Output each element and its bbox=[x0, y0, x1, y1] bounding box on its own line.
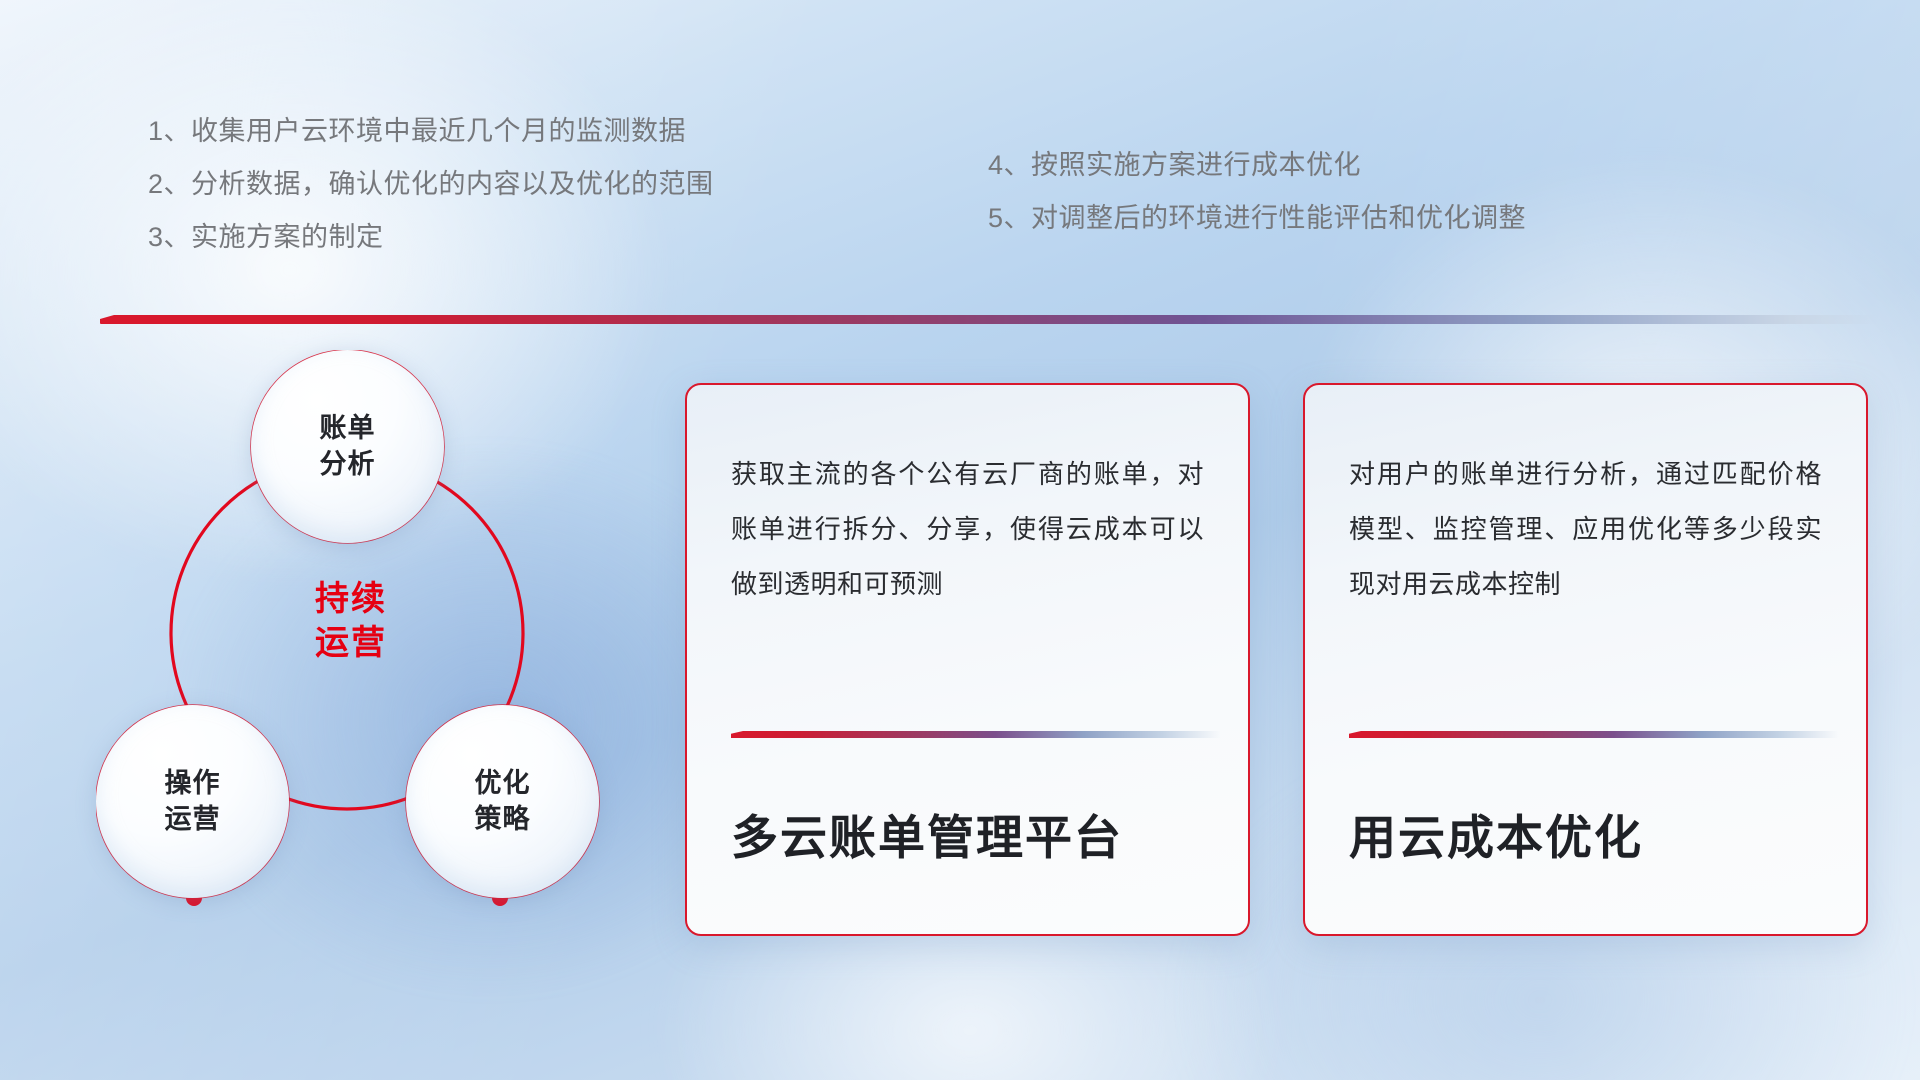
section-divider-rule bbox=[100, 315, 1880, 324]
bubble-operations-label: 操作 运营 bbox=[165, 766, 221, 836]
cycle-diagram: 账单 分析 操作 运营 优化 策略 持续 运营 bbox=[96, 350, 656, 940]
bubble-optimization-strategy-line1: 优化 bbox=[475, 768, 531, 798]
bubble-bill-analysis[interactable]: 账单 分析 bbox=[251, 350, 444, 543]
bubble-operations-line1: 操作 bbox=[165, 768, 221, 798]
bubble-optimization-strategy[interactable]: 优化 策略 bbox=[406, 705, 599, 898]
card-multicloud-billing[interactable]: 获取主流的各个公有云厂商的账单，对账单进行拆分、分享，使得云成本可以做到透明和可… bbox=[685, 383, 1250, 936]
process-step-1: 1、收集用户云环境中最近几个月的监测数据 bbox=[148, 118, 988, 145]
process-step-4: 4、按照实施方案进行成本优化 bbox=[988, 152, 1688, 179]
card-multicloud-billing-divider bbox=[731, 731, 1221, 738]
card-multicloud-billing-title: 多云账单管理平台 bbox=[731, 812, 1123, 864]
card-cloud-cost-optimization[interactable]: 对用户的账单进行分析，通过匹配价格模型、监控管理、应用优化等多少段实现对用云成本… bbox=[1303, 383, 1868, 936]
process-step-3: 3、实施方案的制定 bbox=[148, 224, 988, 251]
bubble-optimization-strategy-label: 优化 策略 bbox=[475, 766, 531, 836]
process-steps-left-column: 1、收集用户云环境中最近几个月的监测数据 2、分析数据，确认优化的内容以及优化的… bbox=[148, 118, 988, 277]
cycle-center-label: 持续 运营 bbox=[256, 578, 446, 665]
bubble-operations-line2: 运营 bbox=[165, 804, 221, 834]
slide-canvas: 1、收集用户云环境中最近几个月的监测数据 2、分析数据，确认优化的内容以及优化的… bbox=[0, 0, 1920, 1080]
process-step-5: 5、对调整后的环境进行性能评估和优化调整 bbox=[988, 205, 1688, 232]
card-multicloud-billing-body: 获取主流的各个公有云厂商的账单，对账单进行拆分、分享，使得云成本可以做到透明和可… bbox=[731, 447, 1204, 687]
bubble-optimization-strategy-line2: 策略 bbox=[475, 804, 531, 834]
card-cloud-cost-optimization-title: 用云成本优化 bbox=[1349, 812, 1643, 864]
process-steps: 1、收集用户云环境中最近几个月的监测数据 2、分析数据，确认优化的内容以及优化的… bbox=[148, 118, 1688, 277]
cycle-center-label-line2: 运营 bbox=[315, 624, 387, 662]
process-steps-right-column: 4、按照实施方案进行成本优化 5、对调整后的环境进行性能评估和优化调整 bbox=[988, 118, 1688, 277]
bubble-operations[interactable]: 操作 运营 bbox=[96, 705, 289, 898]
bubble-bill-analysis-label: 账单 分析 bbox=[320, 411, 376, 481]
process-step-2: 2、分析数据，确认优化的内容以及优化的范围 bbox=[148, 171, 988, 198]
bubble-bill-analysis-line1: 账单 bbox=[320, 413, 376, 443]
bubble-bill-analysis-line2: 分析 bbox=[320, 449, 376, 479]
card-cloud-cost-optimization-divider bbox=[1349, 731, 1839, 738]
card-cloud-cost-optimization-body: 对用户的账单进行分析，通过匹配价格模型、监控管理、应用优化等多少段实现对用云成本… bbox=[1349, 447, 1822, 687]
cycle-center-label-line1: 持续 bbox=[315, 580, 387, 618]
